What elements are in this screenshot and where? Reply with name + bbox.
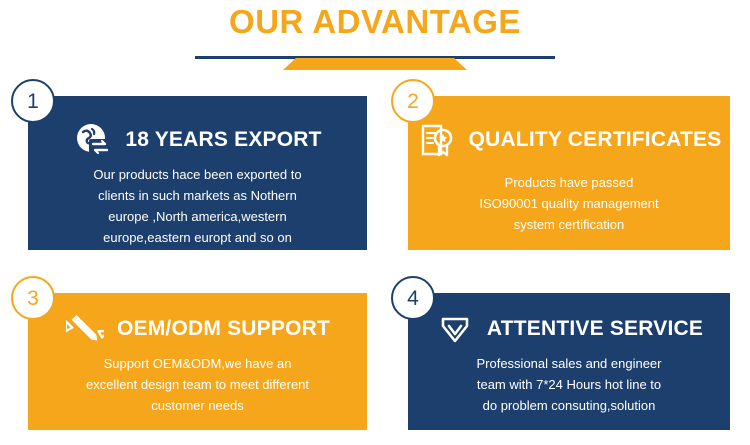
card-title: 18 YEARS EXPORT [125, 128, 321, 152]
card-title: OEM/ODM SUPPORT [117, 317, 330, 341]
title-divider [195, 56, 555, 74]
card-title: ATTENTIVE SERVICE [487, 317, 703, 341]
card-description-line: europe,eastern europt and so on [46, 227, 349, 248]
card-description-line: team with 7*24 Hours hot line to [426, 374, 712, 395]
pencil-ruler-icon [65, 309, 105, 349]
card-description-line: Support OEM&ODM,we have an [46, 353, 349, 374]
header-section: OUR ADVANTAGE [0, 0, 750, 78]
card-description-line: ISO90001 quality management [426, 193, 712, 214]
card-header: ATTENTIVE SERVICE [408, 309, 730, 349]
card-description-line: Our products hace been exported to [46, 164, 349, 185]
advantage-card-1[interactable]: 1 18 YEARS EXPORT Our products hace been… [28, 96, 367, 250]
certificate-award-icon [417, 120, 457, 160]
card-header: QUALITY CERTIFICATES [408, 120, 730, 160]
card-header: OEM/ODM SUPPORT [28, 309, 367, 349]
card-header: 18 YEARS EXPORT [28, 120, 367, 160]
advantage-card-3[interactable]: 3 OEM/ODM SUPPORT Support OEM&ODM,we hav… [28, 293, 367, 430]
diamond-check-icon [435, 309, 475, 349]
card-title: QUALITY CERTIFICATES [469, 128, 722, 152]
card-description-line: excellent design team to meet different [46, 374, 349, 395]
card-description: Support OEM&ODM,we have an excellent des… [46, 353, 349, 416]
card-number-badge: 1 [11, 79, 55, 123]
card-description: Products have passed ISO90001 quality ma… [426, 172, 712, 235]
advantage-card-4[interactable]: 4 ATTENTIVE SERVICE Professional sales a… [408, 293, 730, 430]
card-description-line: system certification [426, 214, 712, 235]
card-description: Professional sales and engineer team wit… [426, 353, 712, 416]
card-description-line: Products have passed [426, 172, 712, 193]
card-description-line: clients in such markets as Nothern [46, 185, 349, 206]
card-description: Our products hace been exported to clien… [46, 164, 349, 248]
card-description-line: europe ,North america,western [46, 206, 349, 227]
card-description-line: Professional sales and engineer [426, 353, 712, 374]
advantage-card-2[interactable]: 2 QUALITY CERTIFICATES Products have pas… [408, 96, 730, 250]
globe-exchange-icon [73, 120, 113, 160]
card-description-line: customer needs [46, 395, 349, 416]
page-title: OUR ADVANTAGE [0, 2, 750, 42]
card-description-line: do problem consuting,solution [426, 395, 712, 416]
card-number-badge: 2 [391, 79, 435, 123]
divider-accent-trapezoid [283, 58, 467, 70]
